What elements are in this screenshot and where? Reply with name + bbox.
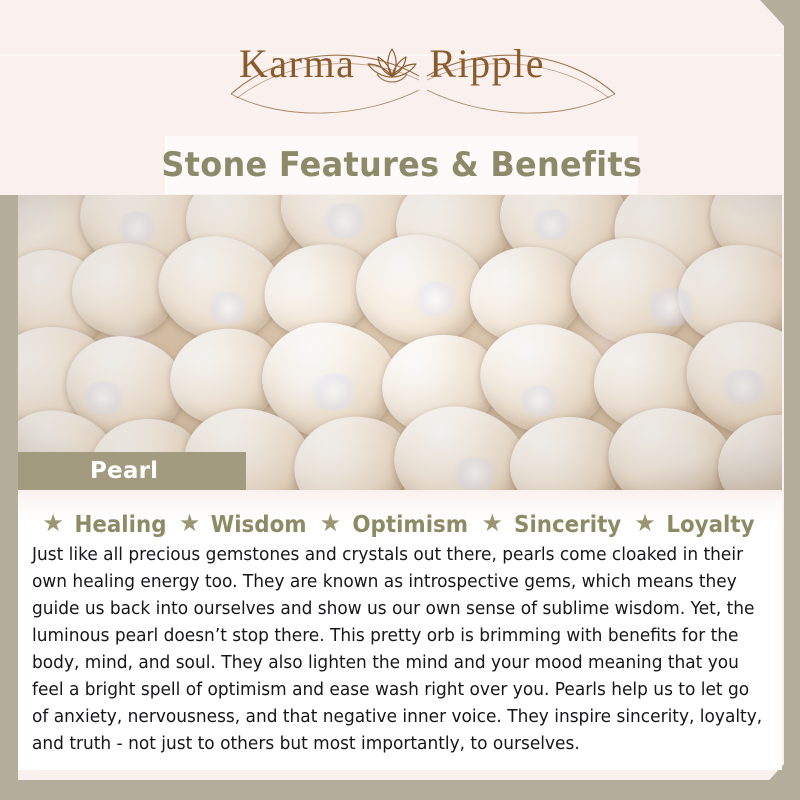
benefit-item: ★ Wisdom xyxy=(179,512,311,538)
star-icon: ★ xyxy=(320,512,342,536)
description-text: Just like all precious gemstones and cry… xyxy=(32,542,763,758)
benefits-row: ★ Healing ★ Wisdom ★ Optimism ★ Sincerit… xyxy=(18,490,782,538)
benefit-label: Loyalty xyxy=(666,512,754,538)
benefit-label: Wisdom xyxy=(211,512,307,538)
brand-word-ripple: Ripple xyxy=(429,44,545,84)
page-title: Stone Features & Benefits xyxy=(161,145,642,185)
pearl-photo xyxy=(18,195,782,490)
benefit-label: Sincerity xyxy=(514,512,621,538)
star-icon: ★ xyxy=(634,512,656,536)
benefit-item: ★ Loyalty xyxy=(634,512,757,538)
brand-word-karma: Karma xyxy=(239,44,355,84)
left-frame-rail xyxy=(0,195,18,780)
benefit-item: ★ Sincerity xyxy=(481,512,625,538)
title-band: Stone Features & Benefits xyxy=(165,136,638,194)
star-icon: ★ xyxy=(42,512,64,536)
stone-name-band: Pearl xyxy=(18,452,246,490)
stone-name: Pearl xyxy=(90,458,158,484)
benefit-label: Optimism xyxy=(352,512,468,538)
benefit-item: ★ Optimism xyxy=(320,512,473,538)
brand-logo: Karma Ripple xyxy=(0,24,784,104)
benefit-item: ★ Healing xyxy=(42,512,170,538)
description-panel: ★ Healing ★ Wisdom ★ Optimism ★ Sincerit… xyxy=(18,490,782,770)
benefit-label: Healing xyxy=(74,512,166,538)
star-icon: ★ xyxy=(481,512,503,536)
star-icon: ★ xyxy=(179,512,201,536)
infographic-page: Karma Ripple Stone Features & Benefits xyxy=(0,0,800,800)
lotus-icon xyxy=(365,44,419,84)
bottom-frame-band xyxy=(0,780,800,800)
